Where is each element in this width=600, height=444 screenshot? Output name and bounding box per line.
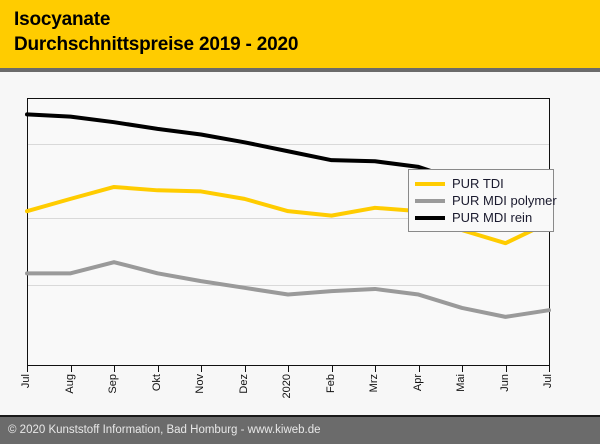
x-axis-label: Jul <box>543 374 554 388</box>
page-title-line2: Durchschnittspreise 2019 - 2020 <box>14 32 600 57</box>
x-axis-label: Apr <box>413 374 424 391</box>
legend-swatch-pur-mdi-rein <box>415 216 445 220</box>
series-line-pur-mdi-polymer <box>27 262 549 317</box>
x-tick <box>549 366 550 372</box>
x-axis-label: Jul <box>21 374 32 388</box>
legend-label-pur-mdi-rein: PUR MDI rein <box>452 210 532 225</box>
legend-swatch-pur-mdi-polymer <box>415 199 445 203</box>
x-tick <box>506 366 507 372</box>
x-tick <box>158 366 159 372</box>
x-tick <box>27 366 28 372</box>
chart-page: Isocyanate Durchschnittspreise 2019 - 20… <box>0 0 600 444</box>
legend-item: PUR MDI polymer <box>415 192 545 209</box>
header-banner: Isocyanate Durchschnittspreise 2019 - 20… <box>0 0 600 68</box>
x-tick <box>462 366 463 372</box>
chart-legend: PUR TDI PUR MDI polymer PUR MDI rein <box>408 169 554 232</box>
x-tick <box>245 366 246 372</box>
x-axis-label: Feb <box>326 374 337 393</box>
legend-item: PUR MDI rein <box>415 209 545 226</box>
series-lines <box>27 98 550 366</box>
x-axis-label: Nov <box>195 374 206 394</box>
x-axis-label: Mrz <box>369 374 380 392</box>
x-tick <box>419 366 420 372</box>
x-axis-label: Okt <box>152 374 163 391</box>
x-tick <box>375 366 376 372</box>
x-axis-label: Sep <box>108 374 119 394</box>
x-axis-label: Aug <box>65 374 76 394</box>
legend-label-pur-mdi-polymer: PUR MDI polymer <box>452 193 557 208</box>
page-title-line1: Isocyanate <box>14 7 600 32</box>
x-tick <box>114 366 115 372</box>
x-tick <box>332 366 333 372</box>
chart-canvas: JulAugSepOktNovDez2020FebMrzAprMaiJunJul… <box>0 72 600 415</box>
legend-swatch-pur-tdi <box>415 182 445 186</box>
x-tick <box>288 366 289 372</box>
x-axis-label: 2020 <box>282 374 293 398</box>
x-axis-label: Jun <box>500 374 511 392</box>
x-axis-label: Mai <box>456 374 467 392</box>
footer-bar: © 2020 Kunststoff Information, Bad Hombu… <box>0 415 600 444</box>
legend-label-pur-tdi: PUR TDI <box>452 176 504 191</box>
x-axis-label: Dez <box>239 374 250 394</box>
copyright-text: © 2020 Kunststoff Information, Bad Hombu… <box>8 424 321 436</box>
x-tick <box>71 366 72 372</box>
legend-item: PUR TDI <box>415 175 545 192</box>
x-tick <box>201 366 202 372</box>
